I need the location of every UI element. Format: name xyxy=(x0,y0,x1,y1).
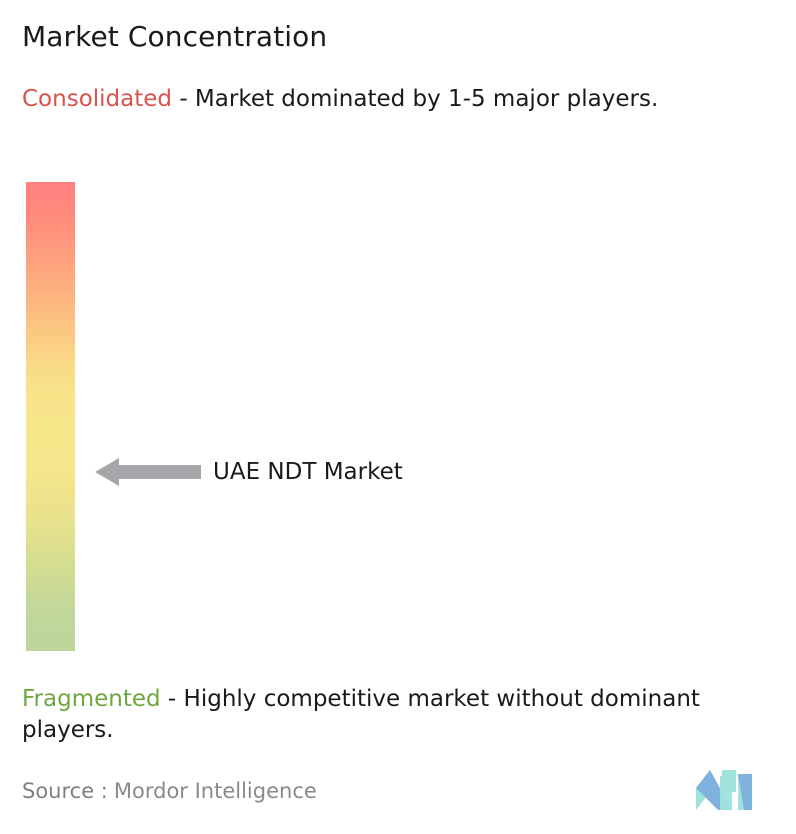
legend-fragmented: Fragmented - Highly competitive market w… xyxy=(22,684,782,746)
source-label: Source : xyxy=(22,779,108,803)
page-title: Market Concentration xyxy=(22,20,327,54)
source-value: Mordor Intelligence xyxy=(114,779,317,803)
legend-consolidated: Consolidated - Market dominated by 1-5 m… xyxy=(22,84,774,115)
concentration-gradient-bar xyxy=(26,182,75,651)
source-footer: Source :Mordor Intelligence xyxy=(22,779,317,804)
legend-consolidated-keyword: Consolidated xyxy=(22,86,172,112)
arrow-left-icon xyxy=(95,457,201,487)
market-marker: UAE NDT Market xyxy=(95,456,495,488)
market-concentration-infographic: Market Concentration Consolidated - Mark… xyxy=(0,0,796,834)
legend-consolidated-description: - Market dominated by 1-5 major players. xyxy=(172,86,658,112)
legend-fragmented-keyword: Fragmented xyxy=(22,686,161,712)
market-marker-label: UAE NDT Market xyxy=(213,461,403,484)
mordor-intelligence-logo-icon xyxy=(694,766,758,810)
